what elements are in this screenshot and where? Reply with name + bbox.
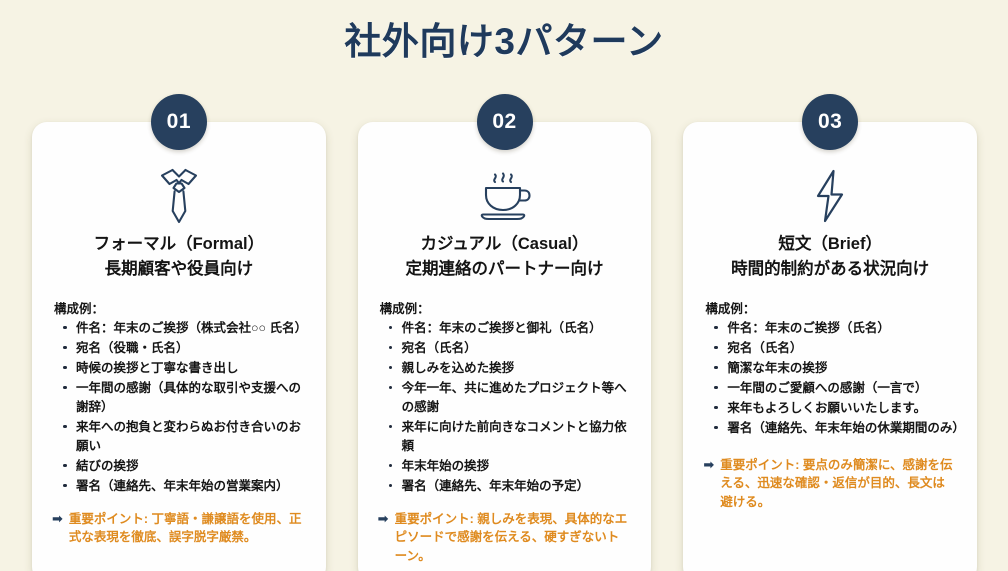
card-title: カジュアル（Casual）	[374, 232, 636, 257]
page-title: 社外向け3パターン	[0, 0, 1008, 63]
list-item: 件名：年末のご挨拶と御礼（氏名）	[388, 319, 636, 338]
list-item: 時候の挨拶と丁寧な書き出し	[62, 359, 310, 378]
list-item: 来年もよろしくお願いいたします。	[713, 399, 961, 418]
keypoint-text: 重要ポイント: 親しみを表現、具体的なエピソードで感謝を伝える、硬すぎないトーン…	[395, 510, 632, 566]
list-item: 簡潔な年末の挨拶	[713, 359, 961, 378]
card-subtitle: 時間的制約がある状況向け	[699, 257, 961, 282]
list-item: 今年一年、共に進めたプロジェクト等への感謝	[388, 379, 636, 417]
coffee-cup-icon	[374, 168, 636, 224]
structure-label: 構成例：	[380, 298, 636, 317]
list-item: 結びの挨拶	[62, 457, 310, 476]
list-item: 来年に向けた前向きなコメントと協力依頼	[388, 418, 636, 456]
card-badge-03: 03	[802, 94, 858, 150]
list-item: 一年間のご愛顧への感謝（一言で）	[713, 379, 961, 398]
list-item: 親しみを込めた挨拶	[388, 359, 636, 378]
card-title: フォーマル（Formal）	[48, 232, 310, 257]
arrow-right-icon: ➡	[378, 510, 389, 529]
list-item: 署名（連絡先、年末年始の休業期間のみ）	[713, 419, 961, 438]
structure-list: 件名：年末のご挨拶と御礼（氏名） 宛名（氏名） 親しみを込めた挨拶 今年一年、共…	[388, 319, 636, 496]
pattern-card-brief: 03 短文（Brief） 時間的制約がある状況向け 構成例： 件名：年末のご挨拶…	[683, 122, 977, 571]
keypoint-text: 重要ポイント: 丁寧語・謙譲語を使用、正式な表現を徹底、誤字脱字厳禁。	[69, 510, 306, 548]
list-item: 署名（連絡先、年末年始の営業案内）	[62, 477, 310, 496]
arrow-right-icon: ➡	[52, 510, 63, 529]
card-badge-01: 01	[151, 94, 207, 150]
structure-label: 構成例：	[54, 298, 310, 317]
keypoint-block: ➡ 重要ポイント: 親しみを表現、具体的なエピソードで感謝を伝える、硬すぎないト…	[378, 510, 636, 566]
list-item: 件名：年末のご挨拶（株式会社○○ 氏名）	[62, 319, 310, 338]
list-item: 宛名（氏名）	[388, 339, 636, 358]
keypoint-text: 重要ポイント: 要点のみ簡潔に、感謝を伝える、迅速な確認・返信が目的、長文は避け…	[720, 456, 957, 512]
structure-list: 件名：年末のご挨拶（氏名） 宛名（氏名） 簡潔な年末の挨拶 一年間のご愛顧への感…	[713, 319, 961, 438]
structure-label: 構成例：	[705, 298, 961, 317]
list-item: 署名（連絡先、年末年始の予定）	[388, 477, 636, 496]
list-item: 来年への抱負と変わらぬお付き合いのお願い	[62, 418, 310, 456]
necktie-icon	[48, 168, 310, 224]
pattern-card-formal: 01 フォーマル（Formal） 長期顧客や役員向け 構成例： 件名：年末のご挨…	[32, 122, 326, 571]
pattern-card-casual: 02 カジュアル（Casual） 定期連絡のパートナー向け 構成例： 件名：年末…	[358, 122, 652, 571]
list-item: 件名：年末のご挨拶（氏名）	[713, 319, 961, 338]
arrow-right-icon: ➡	[703, 456, 714, 475]
card-title: 短文（Brief）	[699, 232, 961, 257]
list-item: 年末年始の挨拶	[388, 457, 636, 476]
card-subtitle: 定期連絡のパートナー向け	[374, 257, 636, 282]
lightning-bolt-icon	[699, 168, 961, 224]
list-item: 一年間の感謝（具体的な取引や支援への謝辞）	[62, 379, 310, 417]
keypoint-block: ➡ 重要ポイント: 丁寧語・謙譲語を使用、正式な表現を徹底、誤字脱字厳禁。	[52, 510, 310, 548]
pattern-cards-row: 01 フォーマル（Formal） 長期顧客や役員向け 構成例： 件名：年末のご挨…	[32, 122, 977, 571]
list-item: 宛名（氏名）	[713, 339, 961, 358]
list-item: 宛名（役職・氏名）	[62, 339, 310, 358]
structure-list: 件名：年末のご挨拶（株式会社○○ 氏名） 宛名（役職・氏名） 時候の挨拶と丁寧な…	[62, 319, 310, 496]
card-subtitle: 長期顧客や役員向け	[48, 257, 310, 282]
card-badge-02: 02	[477, 94, 533, 150]
keypoint-block: ➡ 重要ポイント: 要点のみ簡潔に、感謝を伝える、迅速な確認・返信が目的、長文は…	[703, 456, 961, 512]
